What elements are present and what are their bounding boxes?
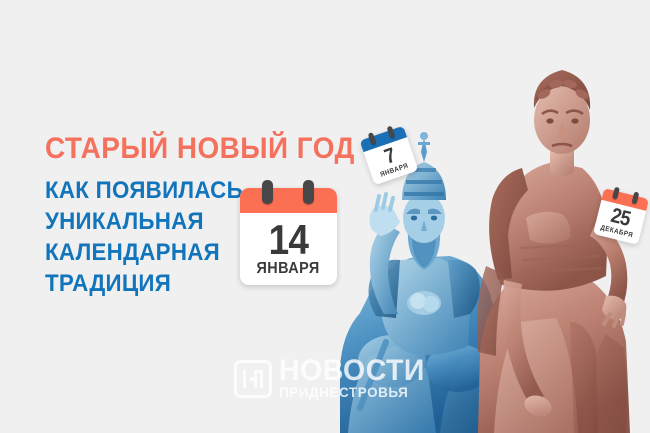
watermark-title: НОВОСТИ: [279, 358, 425, 384]
watermark: НОВОСТИ ПРИДНЕСТРОВЬЯ: [234, 358, 433, 400]
calendar-day: 14: [269, 220, 308, 260]
watermark-subtitle: ПРИДНЕСТРОВЬЯ: [279, 384, 426, 400]
calendar-month: ЯНВАРЯ: [257, 260, 320, 278]
calendar-header: [240, 188, 337, 213]
calendar-14-january: 14 ЯНВАРЯ: [240, 188, 337, 285]
calendar-body: 14 ЯНВАРЯ: [240, 213, 337, 285]
poster-canvas: СТАРЫЙ НОВЫЙ ГОД КАК ПОЯВИЛАСЬ УНИКАЛЬНА…: [0, 0, 650, 433]
watermark-text: НОВОСТИ ПРИДНЕСТРОВЬЯ: [279, 358, 433, 400]
calendar-ring-right-icon: [303, 180, 314, 204]
calendar-ring-left-icon: [262, 180, 273, 204]
np-logo-monogram: [243, 370, 263, 388]
page-title: СТАРЫЙ НОВЫЙ ГОД: [45, 132, 355, 165]
np-logo-icon: [234, 360, 272, 398]
